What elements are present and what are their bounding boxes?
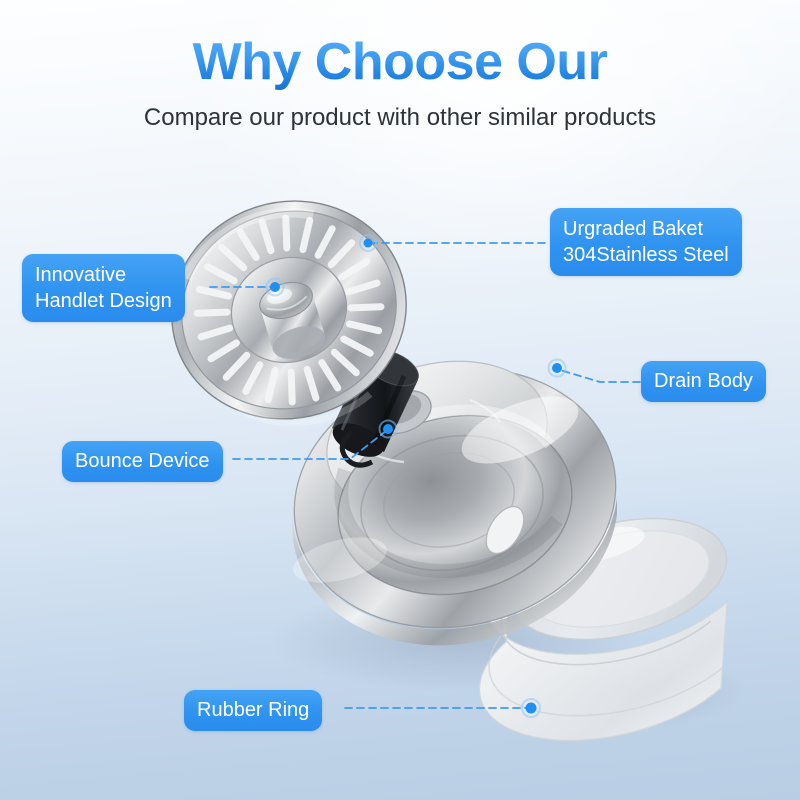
callout-innovative-handle[interactable]: Innovative Handlet Design bbox=[22, 254, 185, 322]
callout-drain-body[interactable]: Drain Body bbox=[641, 361, 766, 402]
infographic-canvas: Why Choose Our Compare our product with … bbox=[0, 0, 800, 800]
callout-rubber-ring[interactable]: Rubber Ring bbox=[184, 690, 322, 731]
page-subtitle: Compare our product with other similar p… bbox=[0, 104, 800, 132]
callout-upgraded-basket[interactable]: Urgraded Baket 304Stainless Steel bbox=[550, 208, 742, 276]
page-title: Why Choose Our bbox=[0, 32, 800, 92]
callout-bounce-device[interactable]: Bounce Device bbox=[62, 441, 223, 482]
